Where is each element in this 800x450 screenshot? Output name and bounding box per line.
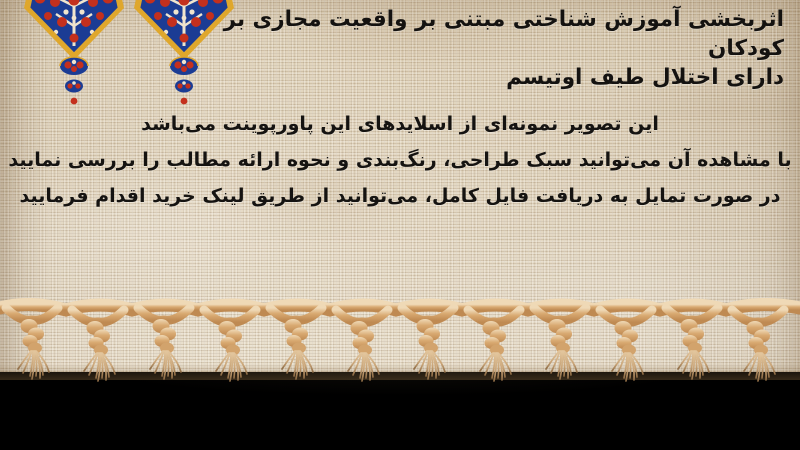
slide-body-text: این تصویر نمونه‌ای از اسلایدهای این پاور… (0, 106, 800, 214)
slide-title: اثربخشی آموزش شناختی مبتنی بر واقعیت مجا… (174, 5, 784, 92)
bottom-black-band (0, 372, 800, 450)
powerpoint-slide: اثربخشی آموزش شناختی مبتنی بر واقعیت مجا… (0, 0, 800, 450)
body-line-2: با مشاهده آن می‌توانید سبک طراحی، رنگ‌بن… (0, 142, 800, 178)
body-line-1: این تصویر نمونه‌ای از اسلایدهای این پاور… (0, 106, 800, 142)
slide-title-line-2: دارای اختلال طیف اوتیسم (174, 63, 784, 92)
carpet-edge-shadow (0, 364, 800, 380)
body-line-3: در صورت تمایل به دریافت فایل کامل، می‌تو… (0, 178, 800, 214)
slide-title-line-1: اثربخشی آموزش شناختی مبتنی بر واقعیت مجا… (174, 5, 784, 63)
